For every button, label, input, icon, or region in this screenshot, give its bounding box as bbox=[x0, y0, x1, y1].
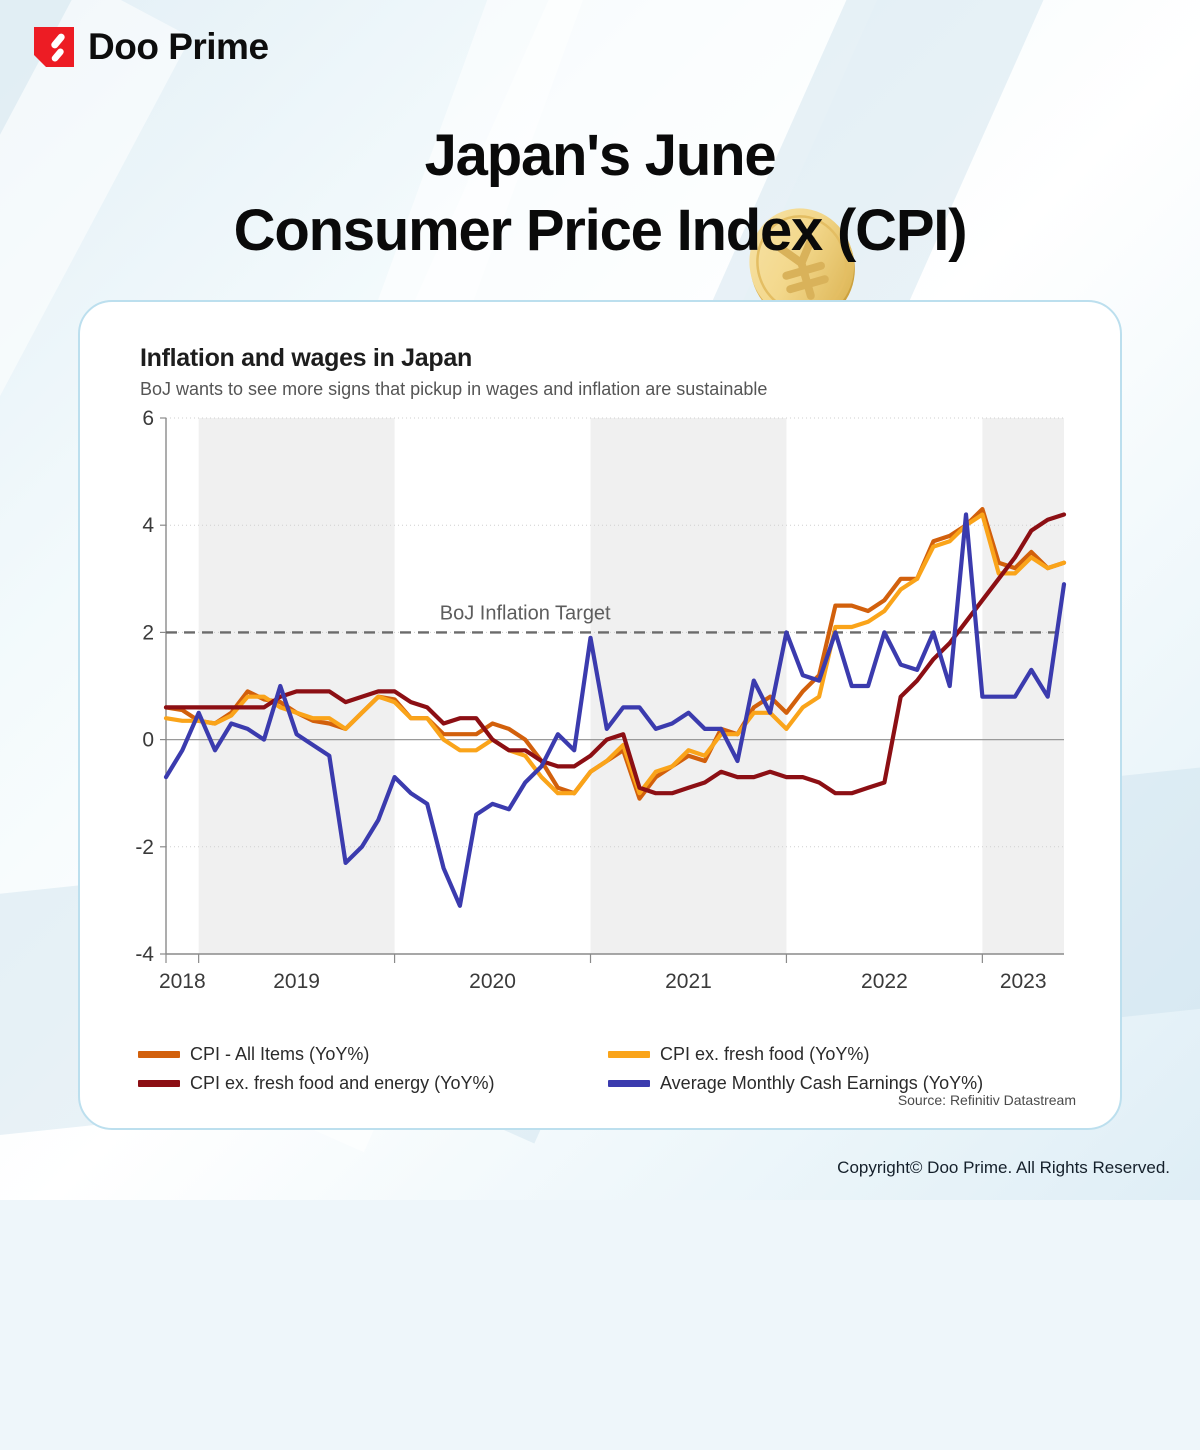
chart-subtitle: BoJ wants to see more signs that pickup … bbox=[140, 379, 1086, 400]
doo-prime-logo-icon bbox=[34, 27, 74, 67]
line-chart-svg: -4-20246201820192020202120222023BoJ Infl… bbox=[118, 408, 1086, 1008]
hero-title-line-2: Consumer Price Index (CPI) bbox=[0, 193, 1200, 268]
y-axis-tick-label: 2 bbox=[142, 621, 154, 644]
hero-title: Japan's June Consumer Price Index (CPI) bbox=[0, 118, 1200, 269]
chart-card: Inflation and wages in Japan BoJ wants t… bbox=[78, 300, 1122, 1130]
legend-item[interactable]: Average Monthly Cash Earnings (YoY%) bbox=[608, 1073, 1078, 1094]
y-axis-tick-label: 6 bbox=[142, 408, 154, 430]
brand-name: Doo Prime bbox=[88, 26, 269, 68]
x-axis-tick-label: 2020 bbox=[469, 970, 516, 993]
brand-header: Doo Prime bbox=[34, 26, 269, 68]
legend-item[interactable]: CPI ex. fresh food and energy (YoY%) bbox=[138, 1073, 608, 1094]
legend-label: CPI - All Items (YoY%) bbox=[190, 1044, 369, 1065]
plot-area: -4-20246201820192020202120222023BoJ Infl… bbox=[118, 408, 1086, 1008]
boj-inflation-target-label: BoJ Inflation Target bbox=[440, 602, 611, 624]
legend-item[interactable]: CPI - All Items (YoY%) bbox=[138, 1044, 608, 1065]
chart-panel: Inflation and wages in Japan BoJ wants t… bbox=[118, 344, 1086, 1090]
legend-label: Average Monthly Cash Earnings (YoY%) bbox=[660, 1073, 983, 1094]
chart-title: Inflation and wages in Japan bbox=[140, 344, 1086, 373]
legend-swatch-icon bbox=[608, 1080, 650, 1087]
legend-swatch-icon bbox=[138, 1051, 180, 1058]
x-axis-tick-label: 2019 bbox=[273, 970, 320, 993]
footer-copyright: Copyright© Doo Prime. All Rights Reserve… bbox=[837, 1158, 1170, 1178]
legend-swatch-icon bbox=[608, 1051, 650, 1058]
y-axis-tick-label: -4 bbox=[135, 943, 154, 966]
y-axis-tick-label: -2 bbox=[135, 836, 154, 859]
x-axis-tick-label: 2021 bbox=[665, 970, 712, 993]
x-axis-tick-label: 2022 bbox=[861, 970, 908, 993]
y-axis-tick-label: 4 bbox=[142, 514, 154, 537]
legend-swatch-icon bbox=[138, 1080, 180, 1087]
y-axis-tick-label: 0 bbox=[142, 729, 154, 752]
chart-source: Source: Refinitiv Datastream bbox=[898, 1092, 1076, 1108]
legend-label: CPI ex. fresh food and energy (YoY%) bbox=[190, 1073, 495, 1094]
x-axis-tick-label: 2018 bbox=[159, 970, 206, 993]
hero-title-line-1: Japan's June bbox=[0, 118, 1200, 193]
legend-item[interactable]: CPI ex. fresh food (YoY%) bbox=[608, 1044, 1078, 1065]
chart-legend: CPI - All Items (YoY%)CPI ex. fresh food… bbox=[138, 1044, 1078, 1094]
x-axis-tick-label: 2023 bbox=[1000, 970, 1047, 993]
legend-label: CPI ex. fresh food (YoY%) bbox=[660, 1044, 869, 1065]
year-band bbox=[199, 418, 395, 954]
